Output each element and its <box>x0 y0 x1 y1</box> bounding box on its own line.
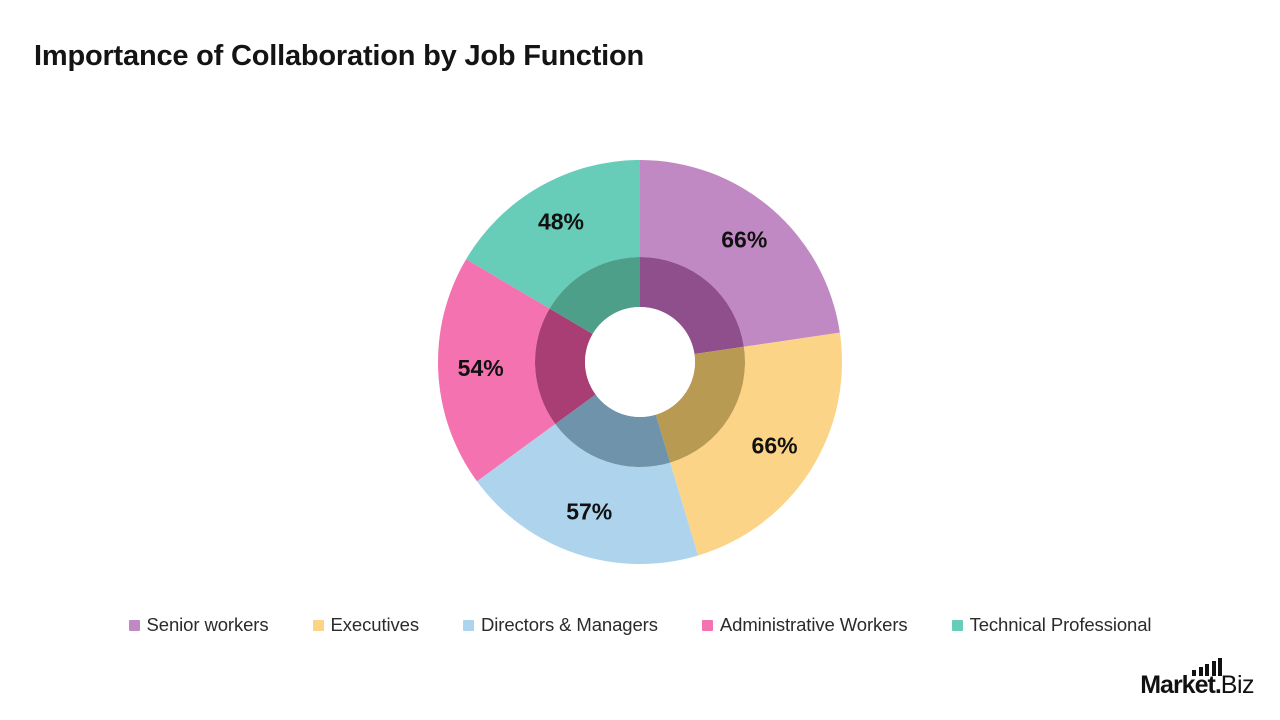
legend-item-executives[interactable]: Executives <box>313 614 419 636</box>
page-title: Importance of Collaboration by Job Funct… <box>34 40 644 73</box>
legend-item-label: Senior workers <box>147 614 269 636</box>
legend-item-label: Administrative Workers <box>720 614 908 636</box>
legend-swatch-icon <box>129 620 140 631</box>
donut-chart-svg: 66%66%57%54%48% <box>0 95 1280 595</box>
brand-logo: Market . Biz <box>1140 666 1254 700</box>
donut-slice-label: 48% <box>538 209 584 235</box>
donut-hole <box>585 307 695 417</box>
legend-item-technical-professional[interactable]: Technical Professional <box>952 614 1152 636</box>
brand-name-light: Biz <box>1221 671 1254 700</box>
legend-item-senior-workers[interactable]: Senior workers <box>129 614 269 636</box>
legend-item-label: Executives <box>331 614 419 636</box>
legend-item-directors-managers[interactable]: Directors & Managers <box>463 614 658 636</box>
legend-swatch-icon <box>952 620 963 631</box>
legend-swatch-icon <box>702 620 713 631</box>
legend-swatch-icon <box>463 620 474 631</box>
donut-slice-label: 57% <box>566 498 612 524</box>
legend-item-administrative-workers[interactable]: Administrative Workers <box>702 614 908 636</box>
legend-item-label: Directors & Managers <box>481 614 658 636</box>
legend-swatch-icon <box>313 620 324 631</box>
donut-slice-label: 54% <box>458 355 504 381</box>
donut-slice-label: 66% <box>752 433 798 459</box>
brand-wordmark: Market . Biz <box>1140 671 1254 700</box>
legend-item-label: Technical Professional <box>970 614 1152 636</box>
donut-chart: 66%66%57%54%48% <box>0 95 1280 595</box>
bar-chart-icon <box>1192 658 1222 676</box>
legend: Senior workers Executives Directors & Ma… <box>0 614 1280 636</box>
donut-slice-label: 66% <box>721 226 767 252</box>
